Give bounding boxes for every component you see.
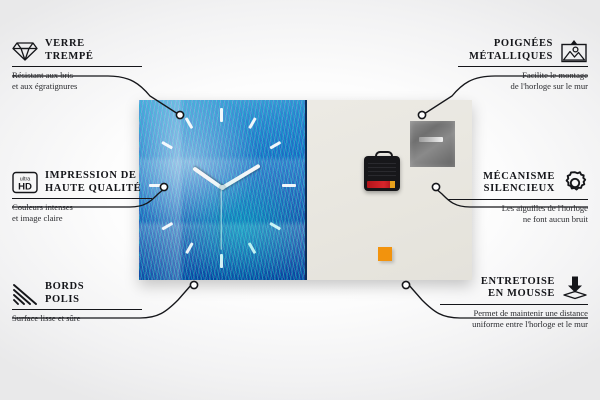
wire-dot-entretoise: [402, 281, 409, 288]
callout-title-line1: IMPRESSION DE: [45, 170, 141, 183]
wire-dot-bords-polis: [190, 281, 197, 288]
callout-poignees-metalliques[interactable]: POIGNÉES MÉTALLIQUES Facilite le montage…: [458, 38, 588, 91]
callout-subtitle-line1: Permet de maintenir une distance: [440, 308, 588, 319]
polished-edge-icon: [12, 283, 38, 305]
diamond-icon: [12, 40, 38, 62]
callout-title-line2: HAUTE QUALITÉ: [45, 183, 141, 196]
tick-10: [161, 141, 173, 149]
callout-rule: [458, 66, 588, 67]
foam-spacer: [378, 247, 392, 261]
svg-text:HD: HD: [18, 181, 32, 192]
callout-rule: [440, 304, 588, 305]
product-photo: [139, 100, 472, 280]
tick-6: [220, 254, 223, 268]
picture-hanger-icon: [560, 39, 588, 63]
tick-5: [248, 242, 256, 254]
callout-title-line1: VERRE: [45, 38, 94, 51]
foam-spacer-icon: [562, 275, 588, 301]
infographic-canvas: VERRE TREMPÉ Résistant aux bris et aux é…: [0, 0, 600, 400]
callout-entretoise-en-mousse[interactable]: ENTRETOISE EN MOUSSE Permet de maintenir…: [440, 275, 588, 329]
tick-8: [161, 222, 173, 230]
callout-title-line2: TREMPÉ: [45, 51, 94, 64]
callout-subtitle-line2: uniforme entre l'horloge et le mur: [440, 319, 588, 330]
minute-hand: [221, 164, 261, 190]
callout-rule: [12, 66, 142, 67]
callout-title-line2: POLIS: [45, 294, 84, 307]
callout-title-line1: POIGNÉES: [469, 38, 553, 51]
callout-rule: [12, 198, 152, 199]
movement-texture: [368, 162, 396, 176]
callout-header: ENTRETOISE EN MOUSSE: [440, 275, 588, 301]
callout-title-line1: MÉCANISME: [483, 171, 555, 184]
callout-title-line1: BORDS: [45, 281, 84, 294]
callout-title-line2: MÉTALLIQUES: [469, 51, 553, 64]
battery-terminal: [390, 181, 395, 188]
callout-mecanisme-silencieux[interactable]: MÉCANISME SILENCIEUX Les aiguilles de l'…: [448, 170, 588, 224]
callout-subtitle-line1: Les aiguilles de l'horloge: [448, 203, 588, 214]
callout-rule: [12, 309, 142, 310]
callout-header: POIGNÉES MÉTALLIQUES: [458, 38, 588, 63]
gear-icon: [562, 170, 588, 196]
hour-hand: [192, 166, 223, 189]
tick-12: [220, 108, 223, 122]
callout-header: BORDS POLIS: [12, 281, 142, 306]
callout-impression-haute-qualite[interactable]: ultra HD IMPRESSION DE HAUTE QUALITÉ Cou…: [12, 170, 152, 223]
ultra-hd-icon: ultra HD: [12, 171, 38, 194]
callout-title-line2: SILENCIEUX: [483, 183, 555, 196]
callout-title-line1: ENTRETOISE: [481, 276, 555, 289]
callout-subtitle-line1: Facilite le montage: [458, 70, 588, 81]
tick-4: [269, 222, 281, 230]
callout-subtitle-line1: Surface lisse et sûre: [12, 313, 142, 324]
callout-rule: [448, 199, 588, 200]
tick-7: [185, 242, 193, 254]
battery: [367, 181, 395, 188]
callout-title-line2: EN MOUSSE: [481, 288, 555, 301]
clock-hub: [220, 185, 225, 190]
quartz-movement: [364, 156, 400, 191]
callout-verre-trempe[interactable]: VERRE TREMPÉ Résistant aux bris et aux é…: [12, 38, 142, 91]
movement-hanger-loop: [375, 151, 393, 160]
callout-header: VERRE TREMPÉ: [12, 38, 142, 63]
tick-3: [282, 184, 296, 187]
bracket-slot: [419, 137, 443, 142]
callout-subtitle-line2: et image claire: [12, 213, 152, 224]
callout-subtitle-line2: ne font aucun bruit: [448, 214, 588, 225]
callout-subtitle-line2: et aux égratignures: [12, 81, 142, 92]
callout-subtitle-line1: Couleurs intenses: [12, 202, 152, 213]
callout-bords-polis[interactable]: BORDS POLIS Surface lisse et sûre: [12, 281, 142, 324]
callout-header: MÉCANISME SILENCIEUX: [448, 170, 588, 196]
clock-front-face: [139, 100, 307, 280]
metal-hanging-bracket: [410, 121, 455, 167]
second-hand: [220, 188, 221, 250]
callout-header: ultra HD IMPRESSION DE HAUTE QUALITÉ: [12, 170, 152, 195]
tick-2: [269, 141, 281, 149]
callout-subtitle-line1: Résistant aux bris: [12, 70, 142, 81]
tick-1: [248, 117, 256, 129]
tick-11: [185, 117, 193, 129]
callout-subtitle-line2: de l'horloge sur le mur: [458, 81, 588, 92]
